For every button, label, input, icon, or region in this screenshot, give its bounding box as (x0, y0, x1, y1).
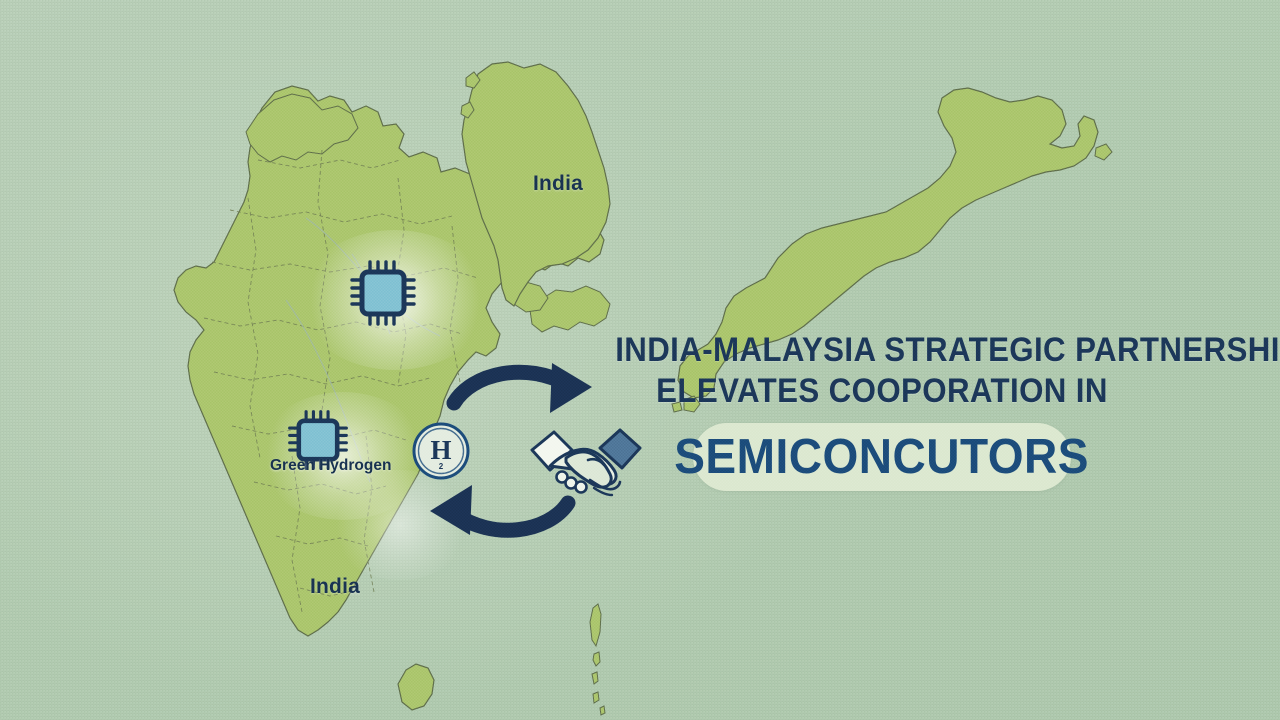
headline-block: INDIA-MALAYSIA STRATEGIC PARTNERSHIP ELE… (592, 330, 1172, 491)
headline-line-1: INDIA-MALAYSIA STRATEGIC PARTNERSHIP (615, 330, 1149, 371)
infographic-canvas: India India (0, 0, 1280, 720)
andaman-nicobar-islands (590, 604, 605, 715)
microchip-icon-north (348, 258, 418, 328)
map-label-india: India (310, 575, 360, 599)
sri-lanka-shape (398, 664, 434, 710)
headline-line-2: ELEVATES COOPORATION IN (615, 371, 1149, 412)
topic-pill: SEMICONCUTORS (693, 423, 1071, 491)
map-label-malaysia-peninsula: India (533, 172, 583, 196)
topic-pill-text: SEMICONCUTORS (675, 429, 1090, 485)
arrow-curved-right-icon (454, 363, 592, 413)
microchip-label-green-hydrogen: Green Hydrogen (270, 457, 391, 475)
